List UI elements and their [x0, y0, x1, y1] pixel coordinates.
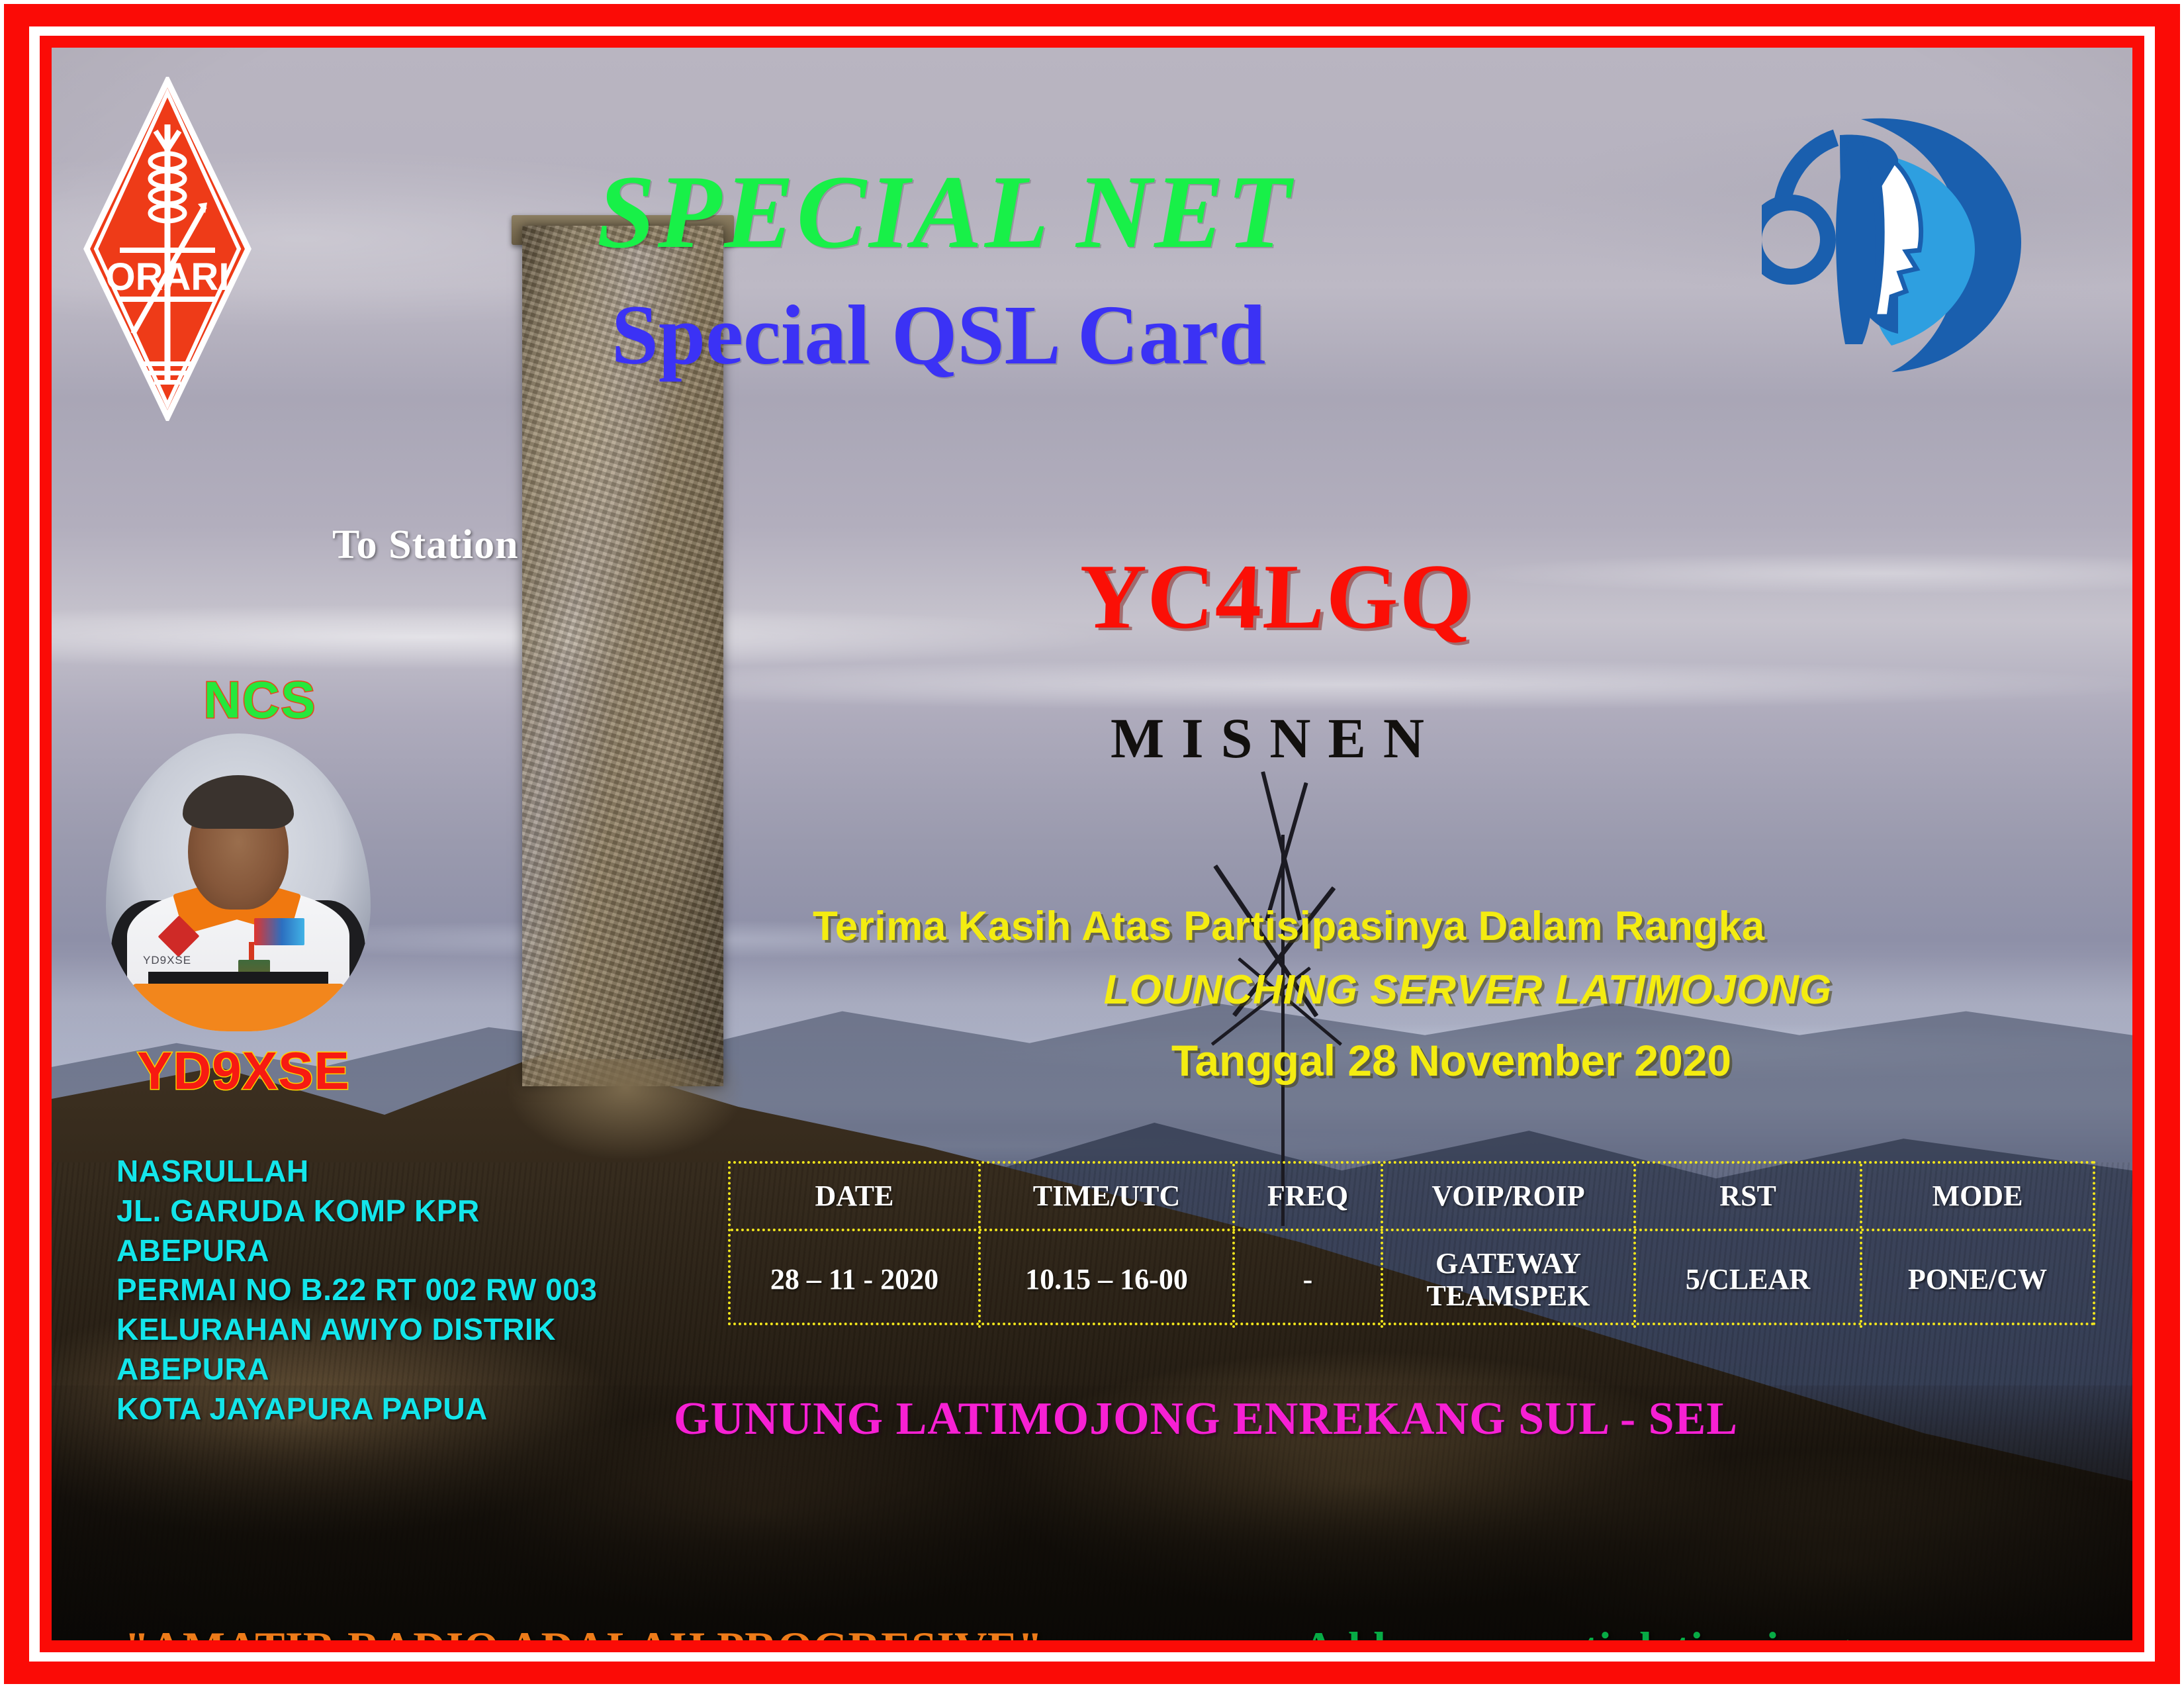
address-line: ABEPURA: [116, 1231, 778, 1271]
table-header-row: DATE TIME/UTC FREQ VOIP/ROIP RST MODE: [731, 1164, 2093, 1231]
page-subtitle-special-qsl-card: Special QSL Card: [52, 293, 1825, 377]
thanks-message: Terima Kasih Atas Partisipasinya Dalam R…: [813, 903, 2132, 950]
event-date: Tanggal 28 November 2020: [813, 1035, 2090, 1086]
event-title: LOUNCHING SERVER LATIMOJONG: [813, 966, 2123, 1013]
address-line: ABEPURA: [116, 1350, 778, 1389]
table-cell-rst: 5/CLEAR: [1636, 1231, 1862, 1328]
station-callsign: YC4LGQ: [798, 551, 1754, 643]
table-cell-date: 28 – 11 - 2020: [731, 1231, 981, 1328]
qsl-card: ORARI SPECIAL NET Spe: [0, 0, 2184, 1688]
portrait-sash: [132, 984, 344, 1031]
table-header-mode: MODE: [1862, 1164, 2093, 1229]
web-address-text: Address : amatir.latimojong.com: [1302, 1622, 1942, 1640]
background-photograph: ORARI SPECIAL NET Spe: [52, 48, 2132, 1640]
table-header-rst: RST: [1636, 1164, 1862, 1229]
table-cell-freq: -: [1235, 1231, 1383, 1328]
ncs-label: NCS: [151, 670, 369, 730]
motto-text: "AMATIR RADIO ADALAH PROGRESIVE": [124, 1622, 1043, 1640]
table-header-voip: VOIP/ROIP: [1383, 1164, 1636, 1229]
table-cell-time: 10.15 – 16-00: [981, 1231, 1235, 1328]
table-header-time: TIME/UTC: [981, 1164, 1235, 1229]
operator-name: MISNEN: [799, 710, 1752, 767]
table-cell-mode: PONE/CW: [1862, 1231, 2093, 1328]
operator-portrait-photo: YD9XSE: [106, 733, 371, 1031]
mailing-address-block: NASRULLAH JL. GARUDA KOMP KPR ABEPURA PE…: [116, 1152, 778, 1429]
portrait-hair: [183, 775, 294, 829]
to-station-label: To Station: [332, 522, 519, 569]
table-cell-voip: GATEWAY TEAMSPEK: [1383, 1231, 1636, 1328]
location-caption: GUNUNG LATIMOJONG ENREKANG SUL - SEL: [674, 1393, 1971, 1446]
table-header-freq: FREQ: [1235, 1164, 1383, 1229]
ncs-callsign: YD9XSE: [111, 1041, 376, 1102]
address-line: JL. GARUDA KOMP KPR: [116, 1192, 778, 1231]
address-line: NASRULLAH: [116, 1152, 778, 1192]
address-line: PERMAI NO B.22 RT 002 RW 003: [116, 1270, 778, 1310]
table-row: 28 – 11 - 2020 10.15 – 16-00 - GATEWAY T…: [731, 1231, 2093, 1328]
table-header-date: DATE: [731, 1164, 981, 1229]
portrait-shirt-badge: [254, 918, 304, 945]
address-line: KELURAHAN AWIYO DISTRIK: [116, 1310, 778, 1350]
portrait-shirt-callsign: YD9XSE: [143, 954, 191, 967]
qso-details-table: DATE TIME/UTC FREQ VOIP/ROIP RST MODE 28…: [728, 1161, 2095, 1325]
page-title-special-net: SPECIAL NET: [52, 160, 1839, 265]
